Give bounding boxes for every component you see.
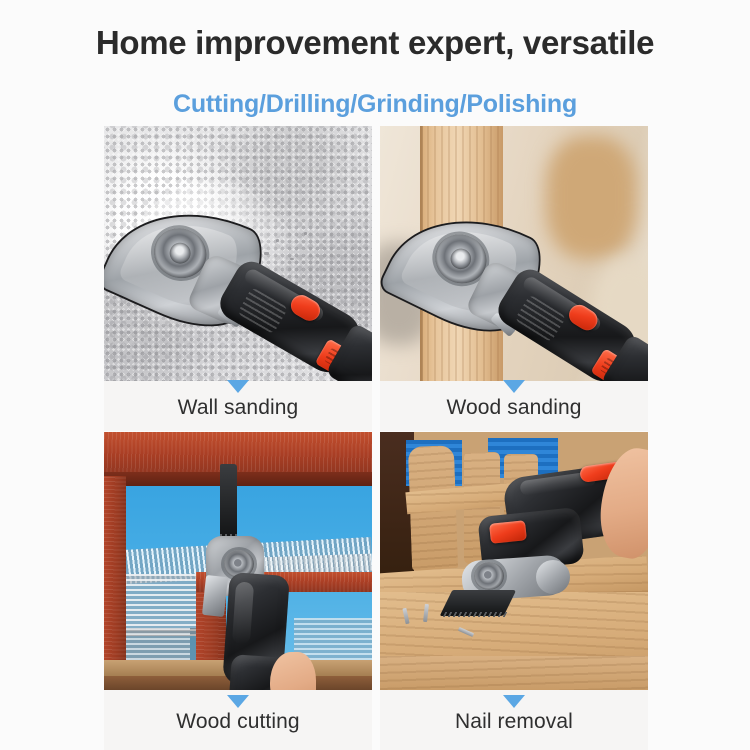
spindle-disc (474, 562, 504, 590)
dust-particle (290, 258, 294, 260)
guard-clamp (202, 575, 228, 617)
bench-front-edge (380, 656, 648, 690)
background-blur-shape (546, 136, 637, 258)
cutting-blade (220, 464, 237, 540)
dust-particle (276, 239, 279, 242)
red-post-left (104, 476, 126, 690)
page-subtitle: Cutting/Drilling/Grinding/Polishing (0, 90, 750, 119)
feature-cell-nail-removal[interactable]: Nail removal (380, 432, 648, 750)
caption-bar: Wood cutting (104, 690, 372, 750)
caption-label: Wood cutting (176, 710, 299, 734)
feature-cell-wall-sanding[interactable]: Wall sanding (104, 126, 372, 431)
photo-nail-removal (380, 432, 648, 690)
feature-grid: Wall sanding (104, 126, 648, 750)
photo-wood-sanding (380, 126, 648, 381)
triangle-down-icon (227, 380, 249, 393)
feature-cell-wood-sanding[interactable]: Wood sanding (380, 126, 648, 431)
dust-particle (264, 252, 269, 255)
power-switch (489, 520, 527, 544)
blade-clamp (536, 560, 570, 594)
page-title: Home improvement expert, versatile (0, 24, 750, 62)
caption-bar: Wall sanding (104, 381, 372, 431)
product-feature-page: Home improvement expert, versatile Cutti… (0, 0, 750, 750)
caption-bar: Wood sanding (380, 381, 648, 431)
triangle-down-icon (227, 695, 249, 708)
triangle-down-icon (503, 380, 525, 393)
triangle-down-icon (503, 695, 525, 708)
caption-label: Nail removal (455, 710, 573, 734)
feature-cell-wood-cutting[interactable]: Wood cutting (104, 432, 372, 750)
photo-wall-sanding (104, 126, 372, 381)
red-beam-top-shadow (104, 472, 372, 486)
caption-label: Wall sanding (178, 396, 299, 420)
caption-label: Wood sanding (446, 396, 581, 420)
caption-bar: Nail removal (380, 690, 648, 750)
red-beam-top (104, 432, 372, 476)
blade-teeth (443, 612, 507, 617)
dust-particle (304, 232, 307, 235)
photo-wood-cutting (104, 432, 372, 690)
